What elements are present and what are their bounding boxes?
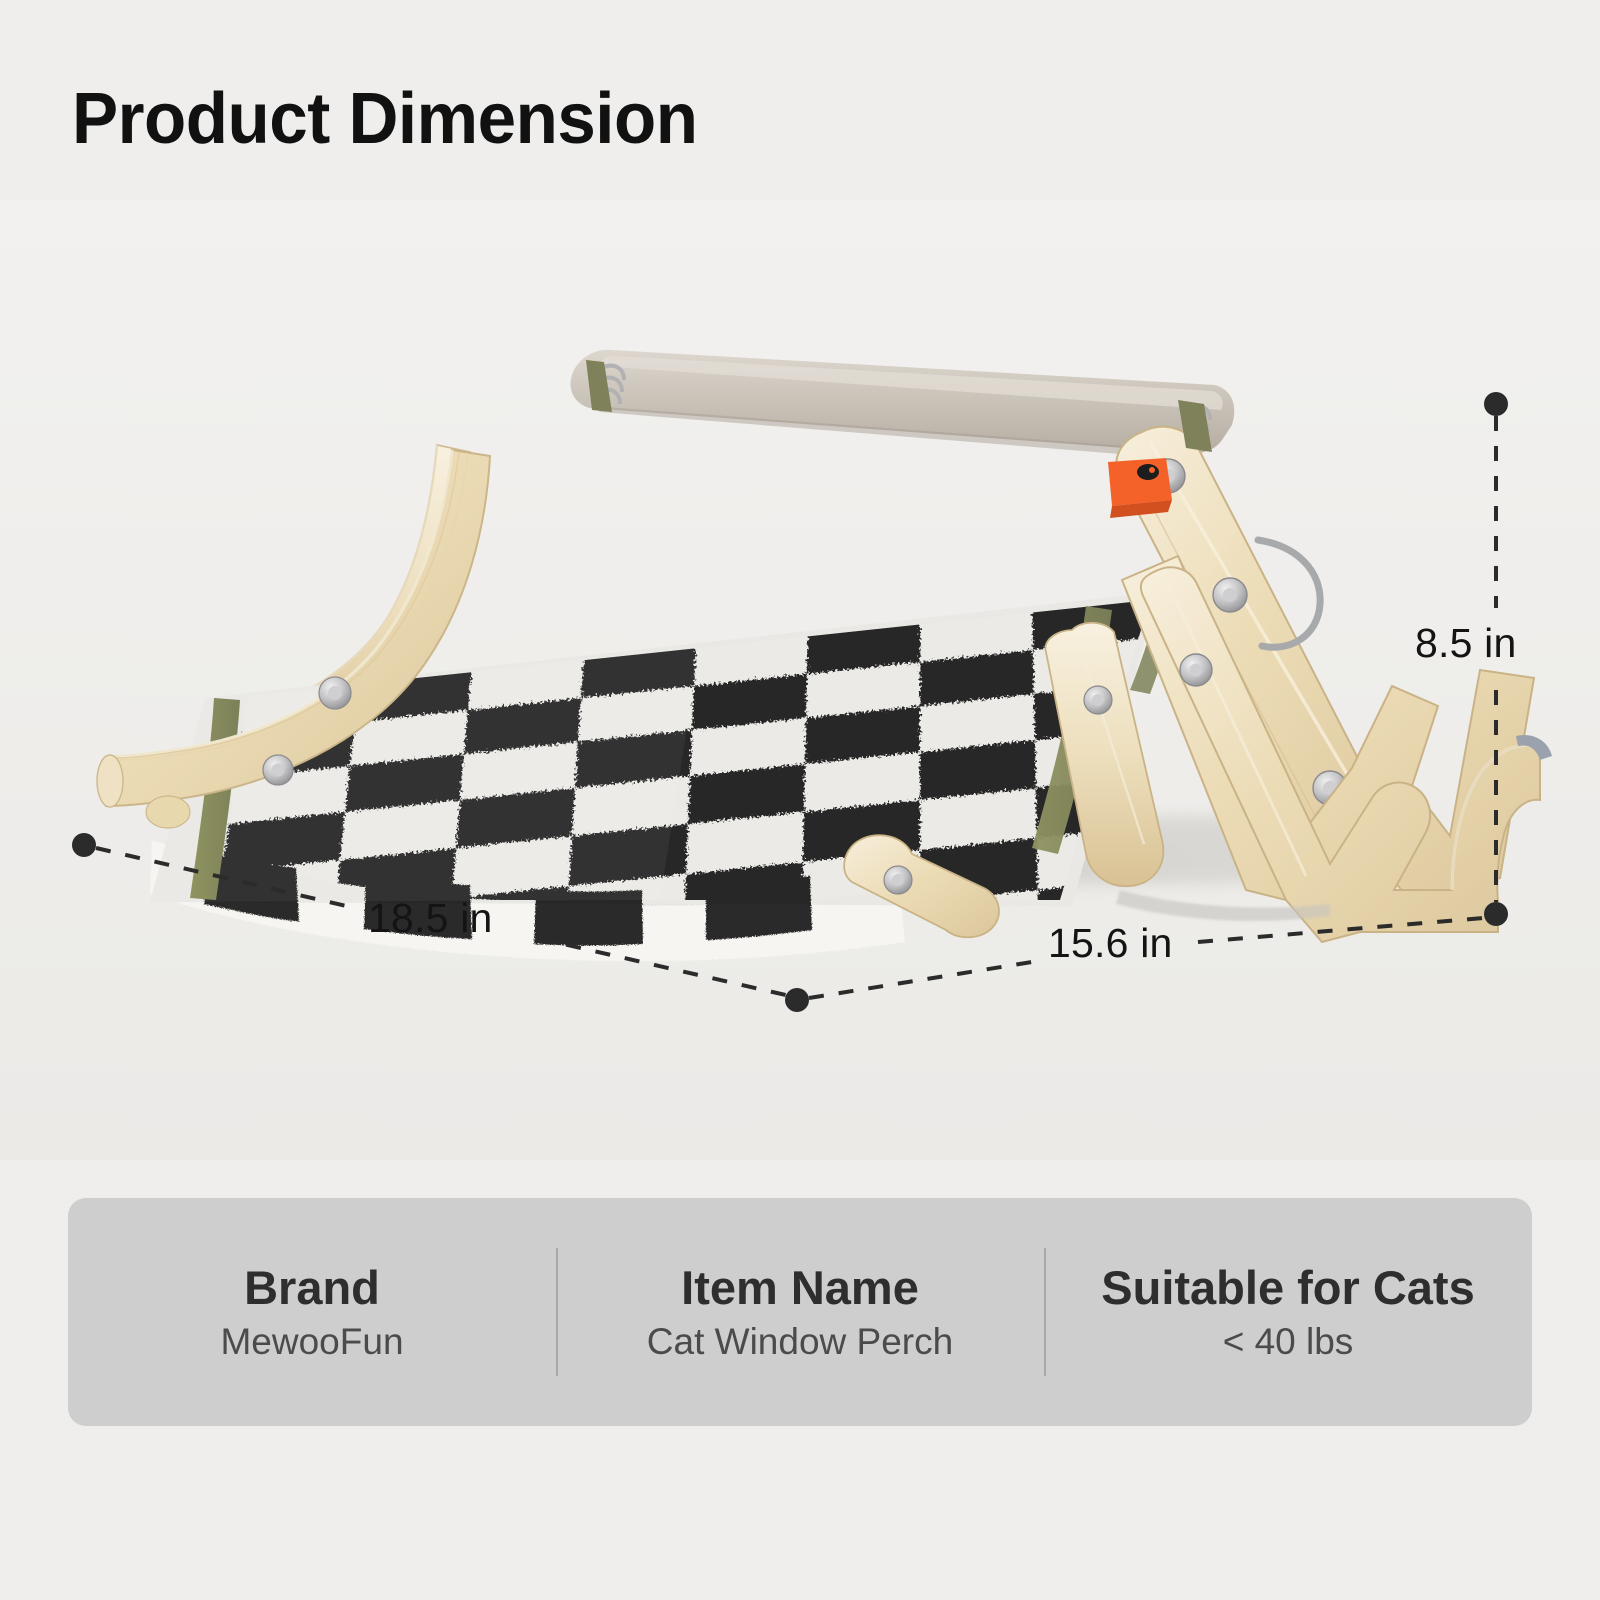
info-value-suitable-for-cats: < 40 lbs	[1223, 1321, 1354, 1362]
rivet	[1213, 578, 1247, 612]
info-heading-item-name: Item Name	[681, 1262, 919, 1315]
product-info-bar: Brand MewooFun Item Name Cat Window Perc…	[68, 1198, 1532, 1426]
rivet	[1180, 654, 1212, 686]
info-heading-brand: Brand	[244, 1262, 380, 1315]
info-heading-suitable-for-cats: Suitable for Cats	[1101, 1262, 1474, 1315]
rivet	[884, 866, 912, 894]
info-value-item-name: Cat Window Perch	[647, 1321, 953, 1362]
info-column-suitable-for-cats: Suitable for Cats < 40 lbs	[1044, 1198, 1532, 1426]
rivet	[1084, 686, 1112, 714]
info-value-brand: MewooFun	[220, 1321, 403, 1362]
page-title: Product Dimension	[72, 82, 698, 158]
info-column-brand: Brand MewooFun	[68, 1198, 556, 1426]
orange-brand-tag	[1108, 458, 1172, 518]
rivet	[263, 755, 293, 785]
rivet	[319, 677, 351, 709]
left-dowel	[146, 796, 190, 828]
info-column-item-name: Item Name Cat Window Perch	[556, 1198, 1044, 1426]
product-photo	[0, 200, 1600, 1160]
infographic-stage: Product Dimension	[0, 0, 1600, 1600]
